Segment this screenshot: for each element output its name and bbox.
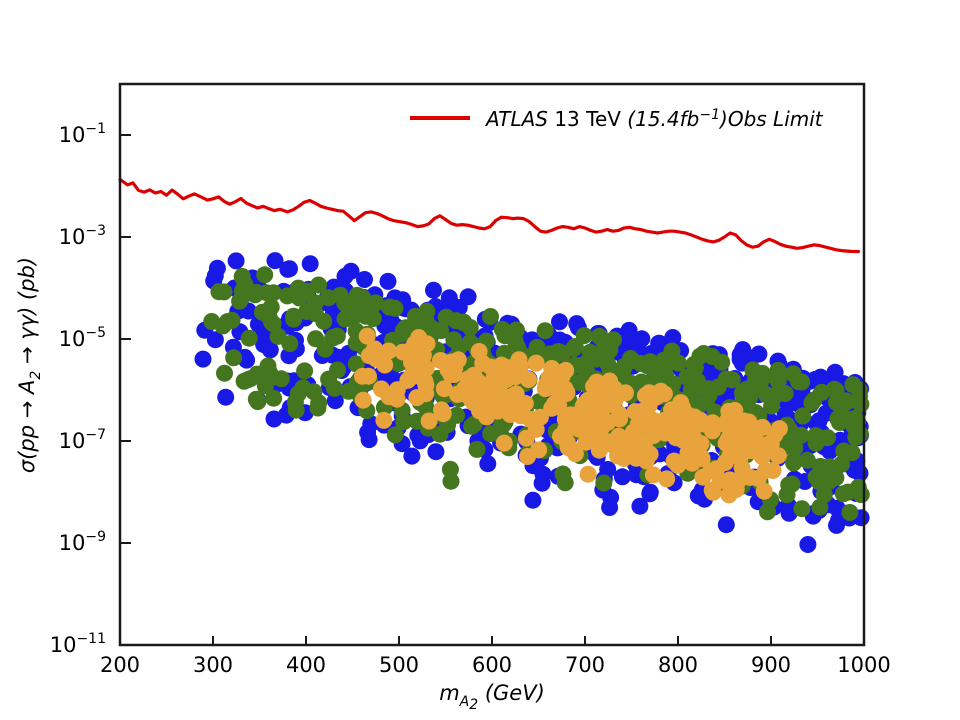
scatter-point: [249, 366, 266, 383]
scatter-point: [498, 359, 515, 376]
scatter-point: [614, 468, 631, 485]
scatter-point: [591, 433, 608, 450]
scatter-point: [296, 362, 313, 379]
scatter-point: [303, 302, 320, 319]
scatter-point: [811, 499, 828, 516]
scatter-point: [508, 386, 525, 403]
x-tick-label: 700: [565, 653, 605, 677]
scatter-point: [225, 349, 242, 366]
scatter-point: [717, 454, 734, 471]
x-tick-label: 900: [751, 653, 791, 677]
scatter-point: [551, 313, 568, 330]
scatter-point: [758, 386, 775, 403]
scatter-point: [834, 407, 851, 424]
scatter-point: [754, 448, 771, 465]
x-tick-label: 800: [658, 653, 698, 677]
scatter-point: [438, 309, 455, 326]
scatter-point: [615, 361, 632, 378]
scatter-point: [256, 266, 273, 283]
scatter-point: [478, 408, 495, 425]
scatter-point: [320, 371, 337, 388]
scatter-point: [435, 405, 452, 422]
scatter-point: [389, 381, 406, 398]
scatter-point: [361, 304, 378, 321]
scatter-point: [402, 369, 419, 386]
scatter-point: [770, 362, 787, 379]
scatter-point: [658, 470, 675, 487]
scatter-point: [418, 360, 435, 377]
scatter-point: [359, 328, 376, 345]
scatter-point: [408, 389, 425, 406]
x-tick-label: 300: [193, 653, 233, 677]
scatter-point: [640, 409, 657, 426]
scatter-point: [496, 435, 513, 452]
scatter-point: [386, 300, 403, 317]
scatter-point: [455, 314, 472, 331]
scatter-point: [599, 414, 616, 431]
scatter-point: [784, 476, 801, 493]
scatter-point: [254, 304, 271, 321]
x-tick-label: 500: [379, 653, 419, 677]
scatter-point: [217, 389, 234, 406]
scatter-point: [537, 322, 554, 339]
scatter-point: [469, 441, 486, 458]
x-tick-label: 1000: [837, 653, 890, 677]
scatter-point: [554, 368, 571, 385]
scatter-point: [446, 360, 463, 377]
scatter-point: [828, 382, 845, 399]
scatter-point: [820, 473, 837, 490]
scatter-point: [851, 382, 868, 399]
scatter-point: [540, 378, 557, 395]
scatter-point: [285, 308, 302, 325]
scatter-point: [425, 282, 442, 299]
scatter-point: [741, 389, 758, 406]
scatter-point: [580, 466, 597, 483]
scatter-point: [543, 400, 560, 417]
scatter-point: [380, 273, 397, 290]
scatter-point: [279, 261, 296, 278]
scatter-point: [241, 330, 258, 347]
scatter-point: [496, 327, 513, 344]
scatter-point: [463, 418, 480, 435]
scatter-point: [317, 341, 334, 358]
scatter-point: [689, 373, 706, 390]
scatter-point: [786, 440, 803, 457]
scatter-point: [195, 351, 212, 368]
scatter-point: [442, 461, 459, 478]
scatter-point: [720, 403, 737, 420]
scatter-point: [621, 326, 638, 343]
scatter-point: [355, 392, 372, 409]
scatter-point: [535, 466, 552, 483]
scatter-point: [718, 516, 735, 533]
scatter-point: [718, 435, 735, 452]
scatter-point: [465, 394, 482, 411]
scatter-point: [721, 486, 738, 503]
scatter-point: [403, 354, 420, 371]
scatter-point: [819, 429, 836, 446]
scatter-point: [557, 421, 574, 438]
scatter-point: [216, 365, 233, 382]
scatter-point: [530, 441, 547, 458]
scatter-point: [224, 312, 241, 329]
scatter-point: [683, 434, 700, 451]
scatter-point: [596, 349, 613, 366]
scatter-point: [290, 385, 307, 402]
scatter-point: [482, 308, 499, 325]
scatter-point: [374, 350, 391, 367]
scatter-point: [659, 419, 676, 436]
scatter-point: [427, 443, 444, 460]
scatter-point: [210, 283, 227, 300]
scatter-point: [528, 355, 545, 372]
scatter-point: [793, 374, 810, 391]
scatter-point: [518, 430, 535, 447]
scatter-point: [290, 280, 307, 297]
scatter-point: [356, 271, 373, 288]
scatter-point: [595, 475, 612, 492]
scatter-point: [847, 429, 864, 446]
x-tick-label: 400: [286, 653, 326, 677]
scatter-point: [704, 348, 721, 365]
x-tick-label: 600: [472, 653, 512, 677]
scatter-point: [771, 420, 788, 437]
scatter-point: [310, 277, 327, 294]
scatter-point: [835, 443, 852, 460]
scatter-point: [710, 379, 727, 396]
scatter-point: [302, 255, 319, 272]
scatter-point: [812, 369, 829, 386]
scatter-point: [799, 452, 816, 469]
scatter-point: [234, 288, 251, 305]
scatter-point: [375, 412, 392, 429]
scatter-point: [345, 302, 362, 319]
scatter-point: [731, 450, 748, 467]
scatter-point: [750, 470, 767, 487]
scatter-point: [641, 485, 658, 502]
scatter-point: [305, 383, 322, 400]
scatter-point: [669, 457, 686, 474]
scatter-point: [265, 284, 282, 301]
scatter-point: [248, 391, 265, 408]
scatter-point: [550, 343, 567, 360]
scatter-point: [332, 287, 349, 304]
scatter-point: [704, 482, 721, 499]
scatter-point: [522, 411, 539, 428]
scatter-point: [853, 486, 870, 503]
scatter-point: [628, 450, 645, 467]
scatter-point: [554, 466, 571, 483]
x-tick-label: 200: [100, 653, 140, 677]
legend-label: ATLAS 13 TeV (15.4fb−1)Obs Limit: [484, 107, 824, 131]
scatter-point: [524, 492, 541, 509]
scatter-point: [470, 373, 487, 390]
scatter-point: [354, 368, 371, 385]
scatter-point: [207, 267, 224, 284]
scatter-point: [601, 499, 618, 516]
scatter-point: [799, 536, 816, 553]
figure-canvas: 2003004005006007008009001000 10−110−310−…: [0, 0, 960, 720]
scatter-point: [648, 389, 665, 406]
scatter-point: [419, 335, 436, 352]
scatter-point: [479, 455, 496, 472]
scatter-plot: 2003004005006007008009001000 10−110−310−…: [0, 0, 960, 720]
scatter-point: [228, 252, 245, 269]
scatter-point: [686, 409, 703, 426]
scatter-point: [617, 384, 634, 401]
scatter-point: [337, 268, 354, 285]
scatter-point: [663, 343, 680, 360]
scatter-point: [841, 504, 858, 521]
scatter-point: [576, 327, 593, 344]
scatter-point: [793, 500, 810, 517]
scatter-point: [615, 432, 632, 449]
scatter-point: [806, 392, 823, 409]
scatter-point: [395, 413, 412, 430]
scatter-point: [740, 426, 757, 443]
